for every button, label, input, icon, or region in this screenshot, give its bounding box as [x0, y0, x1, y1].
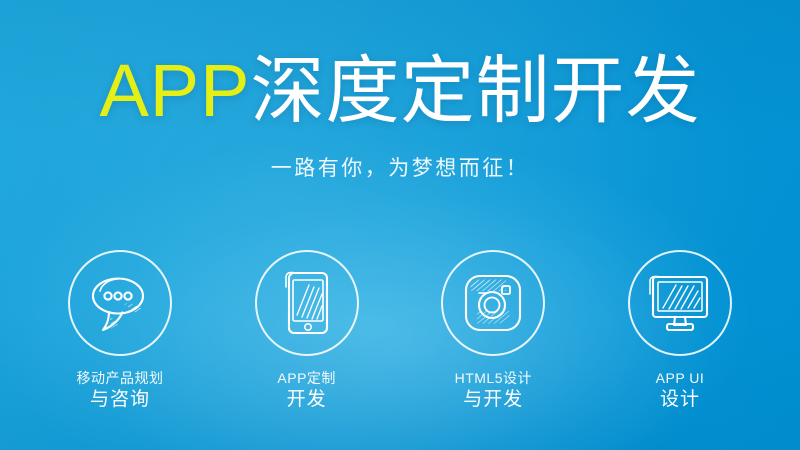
desktop-monitor-icon	[645, 272, 715, 334]
speech-bubble-icon	[87, 272, 153, 334]
label-bottom: 与咨询	[40, 389, 200, 411]
label-top: APP定制	[227, 370, 387, 386]
icon-circle	[68, 250, 172, 356]
promo-banner: APP深度定制开发 一路有你，为梦想而征！	[0, 0, 800, 450]
feature-label-app-development: APP定制 开发	[227, 370, 387, 411]
label-top: 移动产品规划	[40, 370, 200, 386]
label-bottom: 与开发	[413, 389, 573, 411]
subtitle: 一路有你，为梦想而征！	[0, 152, 800, 182]
tablet-device-icon	[279, 269, 335, 337]
label-top: APP UI	[600, 370, 760, 386]
headline-container: APP深度定制开发	[0, 54, 800, 128]
feature-icon-row	[40, 250, 760, 362]
feature-item-consulting[interactable]	[40, 250, 200, 356]
feature-item-html5[interactable]	[413, 250, 573, 356]
headline-rest: 深度定制开发	[251, 49, 701, 132]
label-bottom: 设计	[600, 389, 760, 411]
label-bottom: 开发	[227, 389, 387, 411]
feature-label-consulting: 移动产品规划 与咨询	[40, 370, 200, 411]
feature-item-app-ui[interactable]	[600, 250, 760, 356]
icon-circle	[628, 250, 732, 356]
icon-circle	[441, 250, 545, 356]
headline-highlight: APP	[99, 49, 250, 132]
icon-circle	[255, 250, 359, 356]
label-top: HTML5设计	[413, 370, 573, 386]
feature-item-app-development[interactable]	[227, 250, 387, 356]
camera-icon	[461, 271, 525, 335]
feature-label-html5: HTML5设计 与开发	[413, 370, 573, 411]
page-title: APP深度定制开发	[0, 54, 800, 128]
feature-label-row: 移动产品规划 与咨询 APP定制 开发 HTML5设计 与开发 APP UI 设…	[40, 370, 760, 411]
feature-label-app-ui: APP UI 设计	[600, 370, 760, 411]
